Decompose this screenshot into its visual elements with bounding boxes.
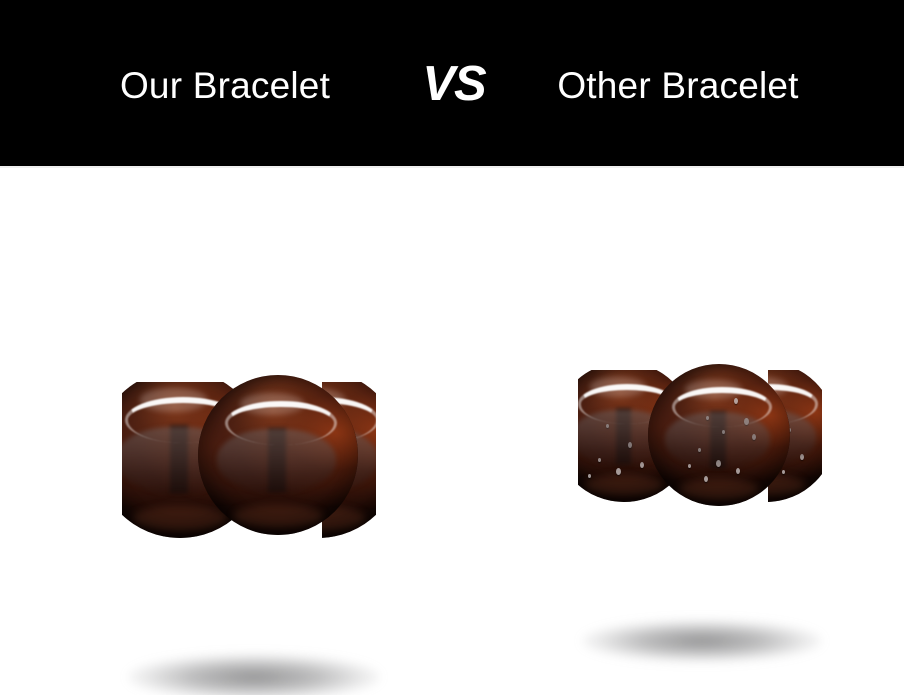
bead-bounce-light [585, 475, 663, 495]
bead-bounce-light [679, 479, 759, 499]
bead-reflection-bar [710, 411, 726, 468]
bead-specular-highlight [225, 401, 337, 445]
bead-surface-pit [706, 416, 709, 420]
bead-bounce-light [133, 506, 227, 530]
panel-other-bracelet: Poor quality bracelet’s bead is not roun… [452, 168, 904, 695]
comparison-panels: We used the high quality natural stone b… [0, 168, 904, 695]
bead-surface-pit [752, 434, 756, 440]
panel-our-bracelet: We used the high quality natural stone b… [0, 168, 452, 695]
other-bracelet-photo [452, 168, 904, 568]
bead-reflection-bar [616, 408, 631, 464]
bead-surface-pit [688, 464, 691, 468]
our-bracelet-photo [0, 168, 452, 568]
bead-surface-pit [736, 468, 740, 474]
bead-surface-pit [800, 454, 804, 460]
bead-surface-pit [704, 476, 708, 482]
bead-surface-pit [722, 430, 725, 434]
bead-surface-pit [640, 462, 644, 468]
bead-surface-pit [588, 474, 591, 478]
bead-specular-highlight [672, 387, 772, 427]
bead-reflection-bar [170, 425, 188, 492]
bead-surface-pit [616, 468, 621, 475]
bead-surface-pit [782, 470, 785, 474]
bead-center [198, 375, 358, 535]
bead-surface-pit [744, 418, 749, 425]
bead-reflection-bar [268, 428, 286, 492]
bead-surface-pit [628, 442, 632, 448]
header-left-title: Our Bracelet [0, 64, 450, 108]
header-right-title: Other Bracelet [455, 64, 901, 108]
bead-group-shadow [582, 620, 822, 662]
bead-group-shadow [128, 654, 380, 695]
bead-surface-pit [598, 458, 601, 462]
header-bar: Our Bracelet VS Other Bracelet [0, 0, 904, 166]
bead-bounce-light [233, 505, 323, 527]
comparison-graphic: Our Bracelet VS Other Bracelet [0, 0, 904, 695]
bead-surface-pit [734, 398, 738, 404]
bead-surface-pit [698, 448, 701, 452]
bead-surface-pit [606, 424, 609, 428]
header-title-row: Our Bracelet VS Other Bracelet [0, 0, 904, 166]
bead-center [648, 364, 790, 506]
bead-surface-pit [716, 460, 721, 467]
